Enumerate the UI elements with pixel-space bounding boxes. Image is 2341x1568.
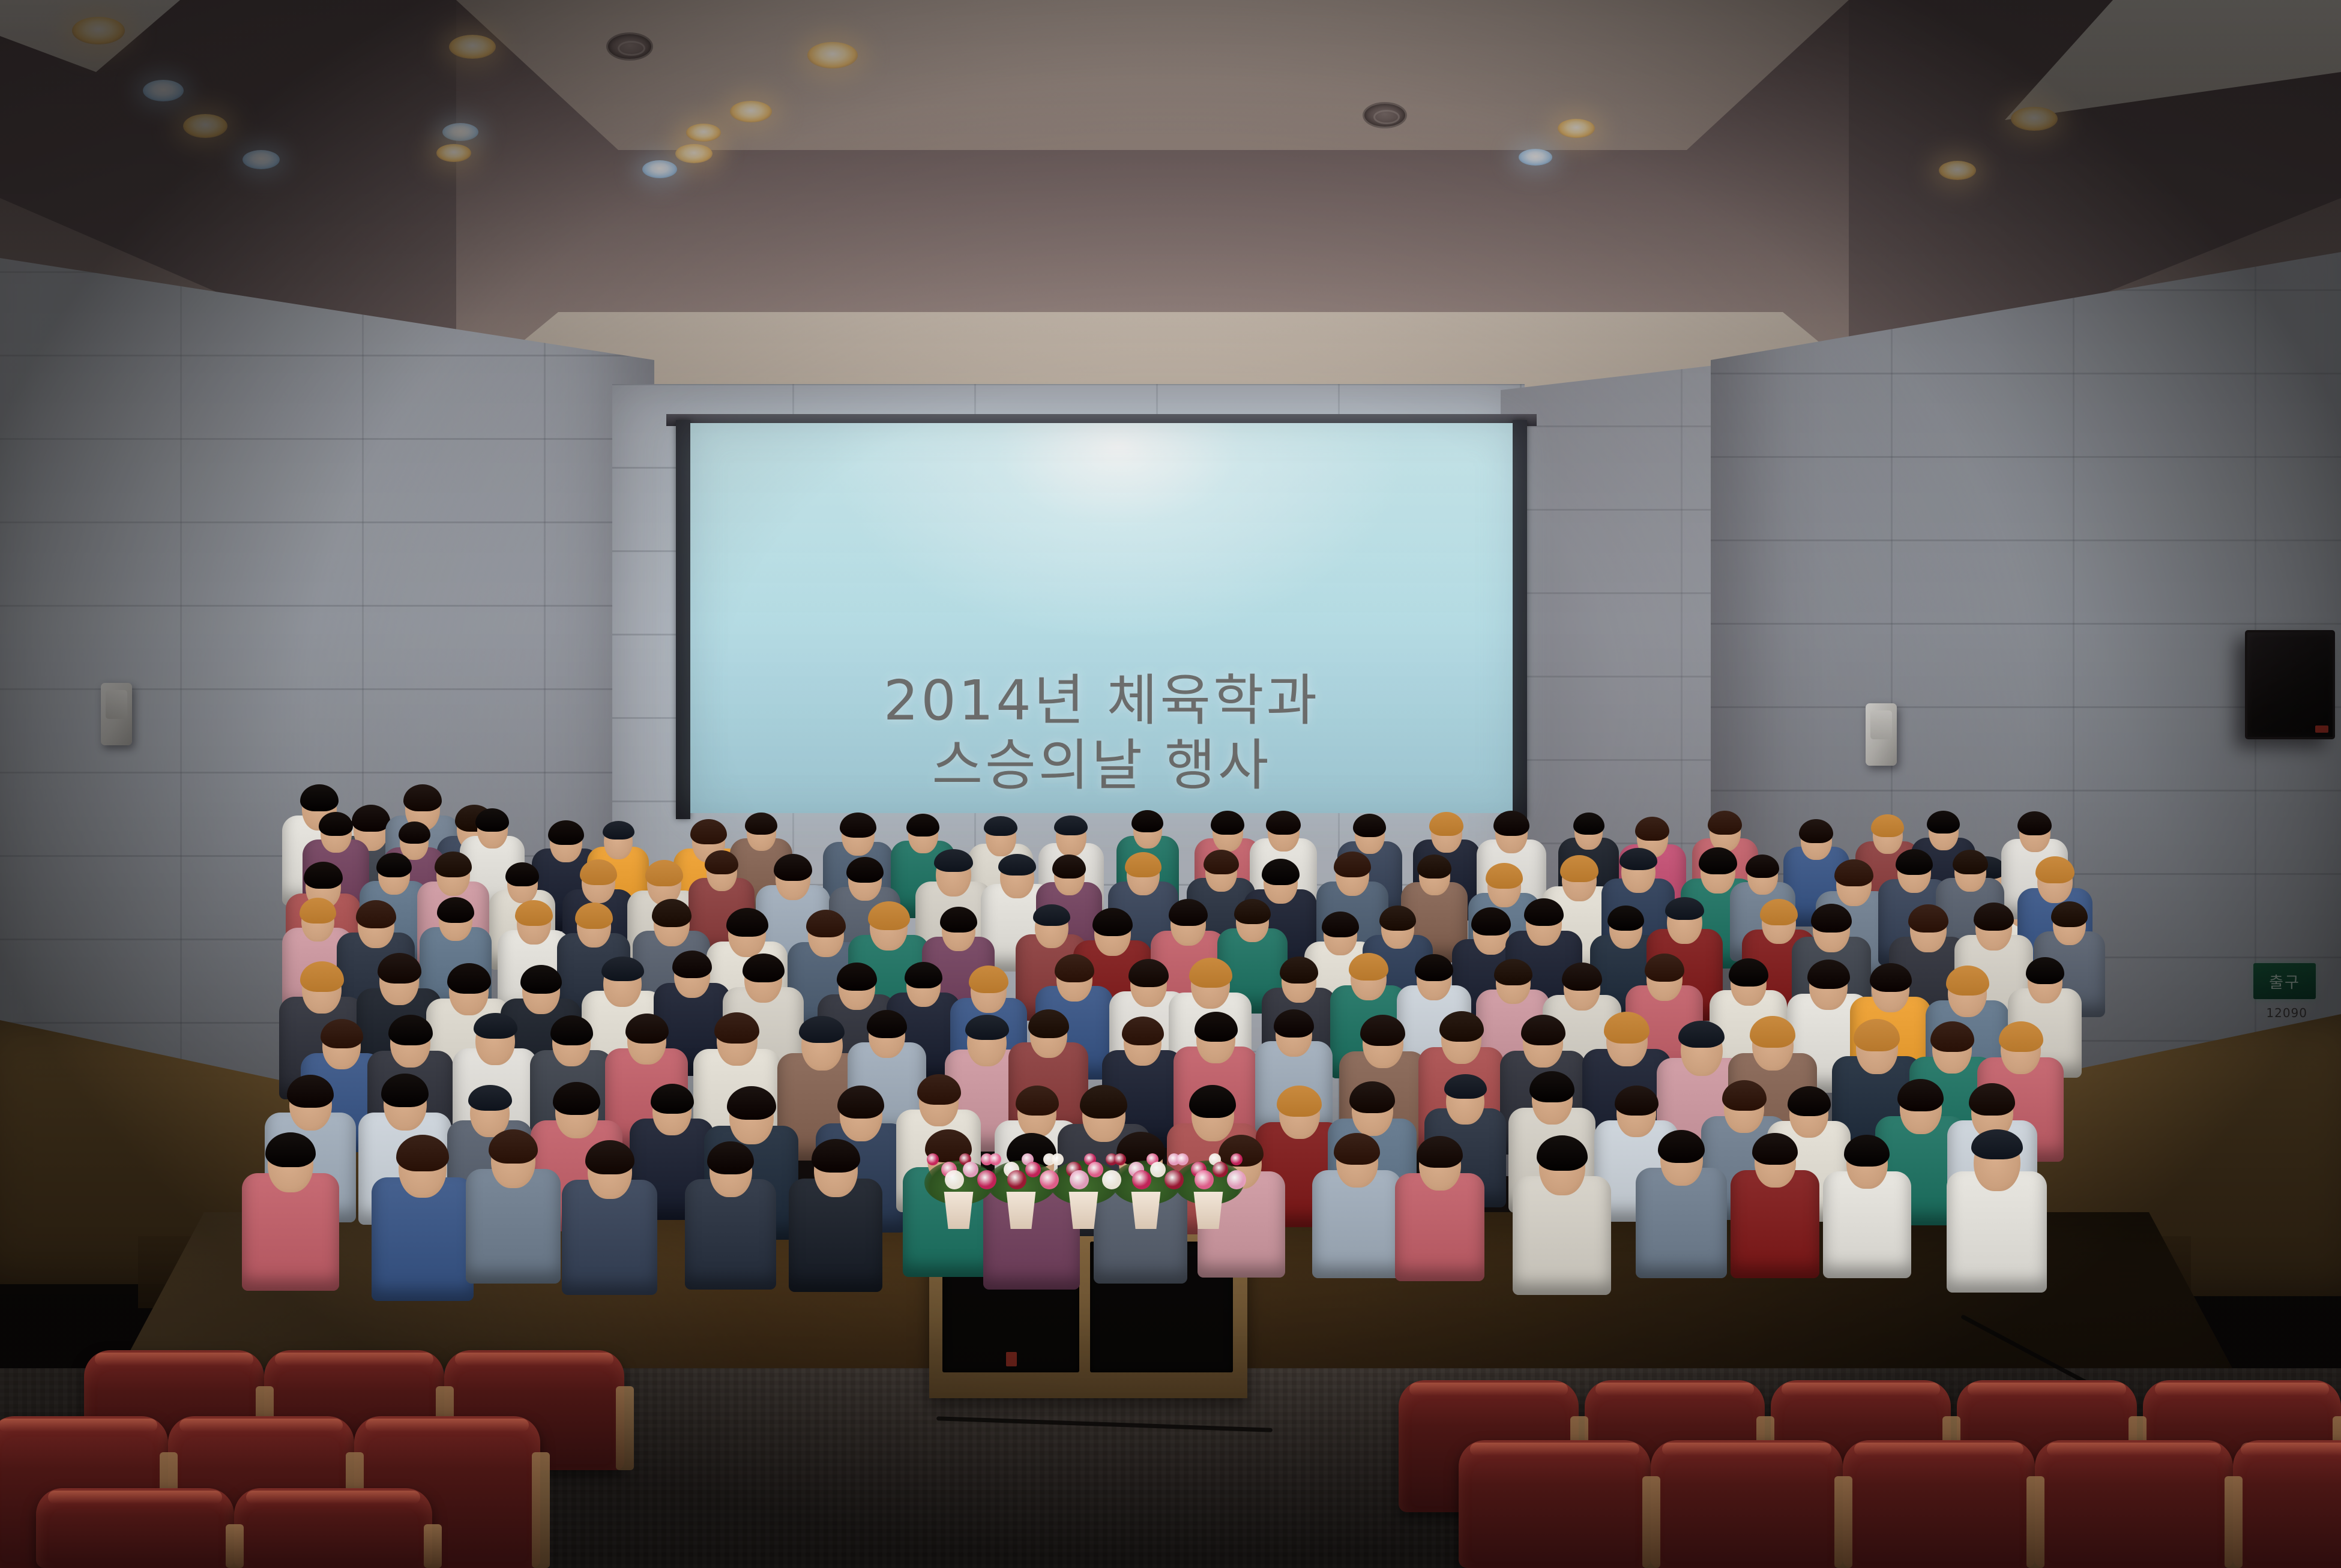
bouquet-blossom: [1088, 1162, 1103, 1177]
bouquet-blossom: [1052, 1153, 1064, 1165]
seat-armrest: [226, 1524, 244, 1568]
ceiling-downlight: [436, 144, 471, 162]
ceiling-downlight: [1519, 149, 1552, 166]
downlight-bulb-icon: [2011, 107, 2058, 131]
bouquet-blossom: [963, 1162, 978, 1177]
ceiling-downlight: [442, 123, 478, 141]
ceiling-downlight: [730, 101, 772, 122]
podium-cabinet: [929, 1215, 1247, 1398]
bouquet-blossom: [1040, 1170, 1059, 1189]
downlight-bulb-icon: [442, 123, 478, 141]
auditorium-seat[interactable]: [234, 1488, 432, 1568]
projection-screen-frame-right: [1513, 420, 1527, 819]
ceiling-downlight: [1939, 161, 1976, 180]
seat-armrest: [1642, 1476, 1660, 1568]
bouquet-blossom: [1150, 1162, 1166, 1177]
downlight-bulb-icon: [642, 160, 677, 178]
person-head: [1336, 1136, 1378, 1188]
ceiling-cove: [456, 0, 1849, 150]
person-hair: [1417, 1136, 1463, 1168]
bouquet-blossom: [989, 1153, 1001, 1165]
person-torso: [1256, 1122, 1343, 1227]
auditorium-seat[interactable]: [1651, 1440, 1843, 1568]
downlight-bulb-icon: [807, 42, 858, 68]
exit-sign: 출구: [2253, 963, 2316, 999]
downlight-bulb-icon: [730, 101, 772, 122]
auditorium-seat[interactable]: [1459, 1440, 1651, 1568]
person-torso: [1328, 1119, 1417, 1226]
exit-sign-label: 출구: [2269, 970, 2300, 993]
seat-armrest: [424, 1524, 442, 1568]
downlight-bulb-icon: [1939, 161, 1976, 180]
wall-speaker: [101, 683, 132, 745]
bouquet-blossom: [1231, 1153, 1243, 1165]
person-head: [1419, 1139, 1461, 1191]
bouquet-blossom: [1114, 1153, 1126, 1165]
bouquet-blossom: [945, 1170, 964, 1189]
projection-screen-frame-left: [676, 420, 690, 819]
ceiling-downlight: [807, 42, 858, 68]
bouquet-blossom: [1213, 1162, 1228, 1177]
auditorium-photo: 출구 12090 2014년 체육학과 스승의날 행사: [0, 0, 2341, 1568]
bouquet-blossom: [1132, 1170, 1151, 1189]
bouquet-blossom: [1227, 1170, 1246, 1189]
person-hair: [707, 1141, 754, 1174]
seat-armrest: [2225, 1476, 2243, 1568]
downlight-bulb-icon: [436, 144, 471, 162]
projection-screen: 2014년 체육학과 스승의날 행사: [690, 423, 1513, 813]
downlight-bulb-icon: [243, 150, 280, 169]
screen-title-line-2: 스승의날 행사: [932, 733, 1271, 799]
downlight-bulb-icon: [143, 80, 184, 101]
bouquet-blossom: [977, 1170, 996, 1189]
room-code-label: 12090: [2266, 1006, 2307, 1020]
auditorium-seat[interactable]: [2035, 1440, 2233, 1568]
person-head: [814, 1143, 858, 1197]
bouquet-blossom: [1177, 1153, 1189, 1165]
screen-title-line-1: 2014년 체육학과: [884, 668, 1320, 734]
seat-armrest: [532, 1452, 550, 1568]
ceiling-downlight: [675, 144, 713, 163]
ceiling-downlight: [1558, 119, 1595, 138]
person-hair: [812, 1139, 860, 1173]
downlight-bulb-icon: [675, 144, 713, 163]
auditorium-seat[interactable]: [2233, 1440, 2341, 1568]
ceiling-downlight: [143, 80, 184, 101]
bouquet-blossom: [1025, 1162, 1041, 1177]
person-hair: [1334, 1133, 1380, 1165]
bouquet-blossom: [1164, 1170, 1184, 1189]
bouquet-blossom: [1102, 1170, 1121, 1189]
ceiling-downlight: [72, 17, 125, 44]
ceiling-downlight: [243, 150, 280, 169]
downlight-bulb-icon: [72, 17, 125, 44]
monitor-brand-badge: [2315, 725, 2328, 733]
person-head: [710, 1144, 752, 1197]
auditorium-seat[interactable]: [1843, 1440, 2035, 1568]
downlight-bulb-icon: [183, 114, 227, 138]
seat-armrest: [1834, 1476, 1852, 1568]
podium-panel-right: [1090, 1242, 1233, 1372]
ceiling-downlight: [183, 114, 227, 138]
wall-speaker: [1866, 703, 1897, 766]
bouquet-blossom: [1195, 1170, 1214, 1189]
wall-monitor: [2245, 630, 2335, 739]
ceiling-vent-icon: [606, 32, 653, 61]
downlight-bulb-icon: [449, 35, 496, 59]
bouquet-blossom: [927, 1153, 939, 1165]
downlight-bulb-icon: [686, 124, 721, 142]
bouquet-blossom: [1070, 1170, 1089, 1189]
downlight-bulb-icon: [1519, 149, 1552, 166]
ceiling-downlight: [642, 160, 677, 178]
downlight-bulb-icon: [1558, 119, 1595, 138]
ceiling-downlight: [686, 124, 721, 142]
bouquet-blossom: [1007, 1170, 1026, 1189]
auditorium-seat[interactable]: [36, 1488, 234, 1568]
seat-armrest: [616, 1386, 634, 1470]
ceiling-vent-icon: [1363, 102, 1407, 128]
ceiling-downlight: [2011, 107, 2058, 131]
seat-armrest: [2026, 1476, 2044, 1568]
ceiling-downlight: [449, 35, 496, 59]
podium-badge: [1006, 1352, 1017, 1366]
